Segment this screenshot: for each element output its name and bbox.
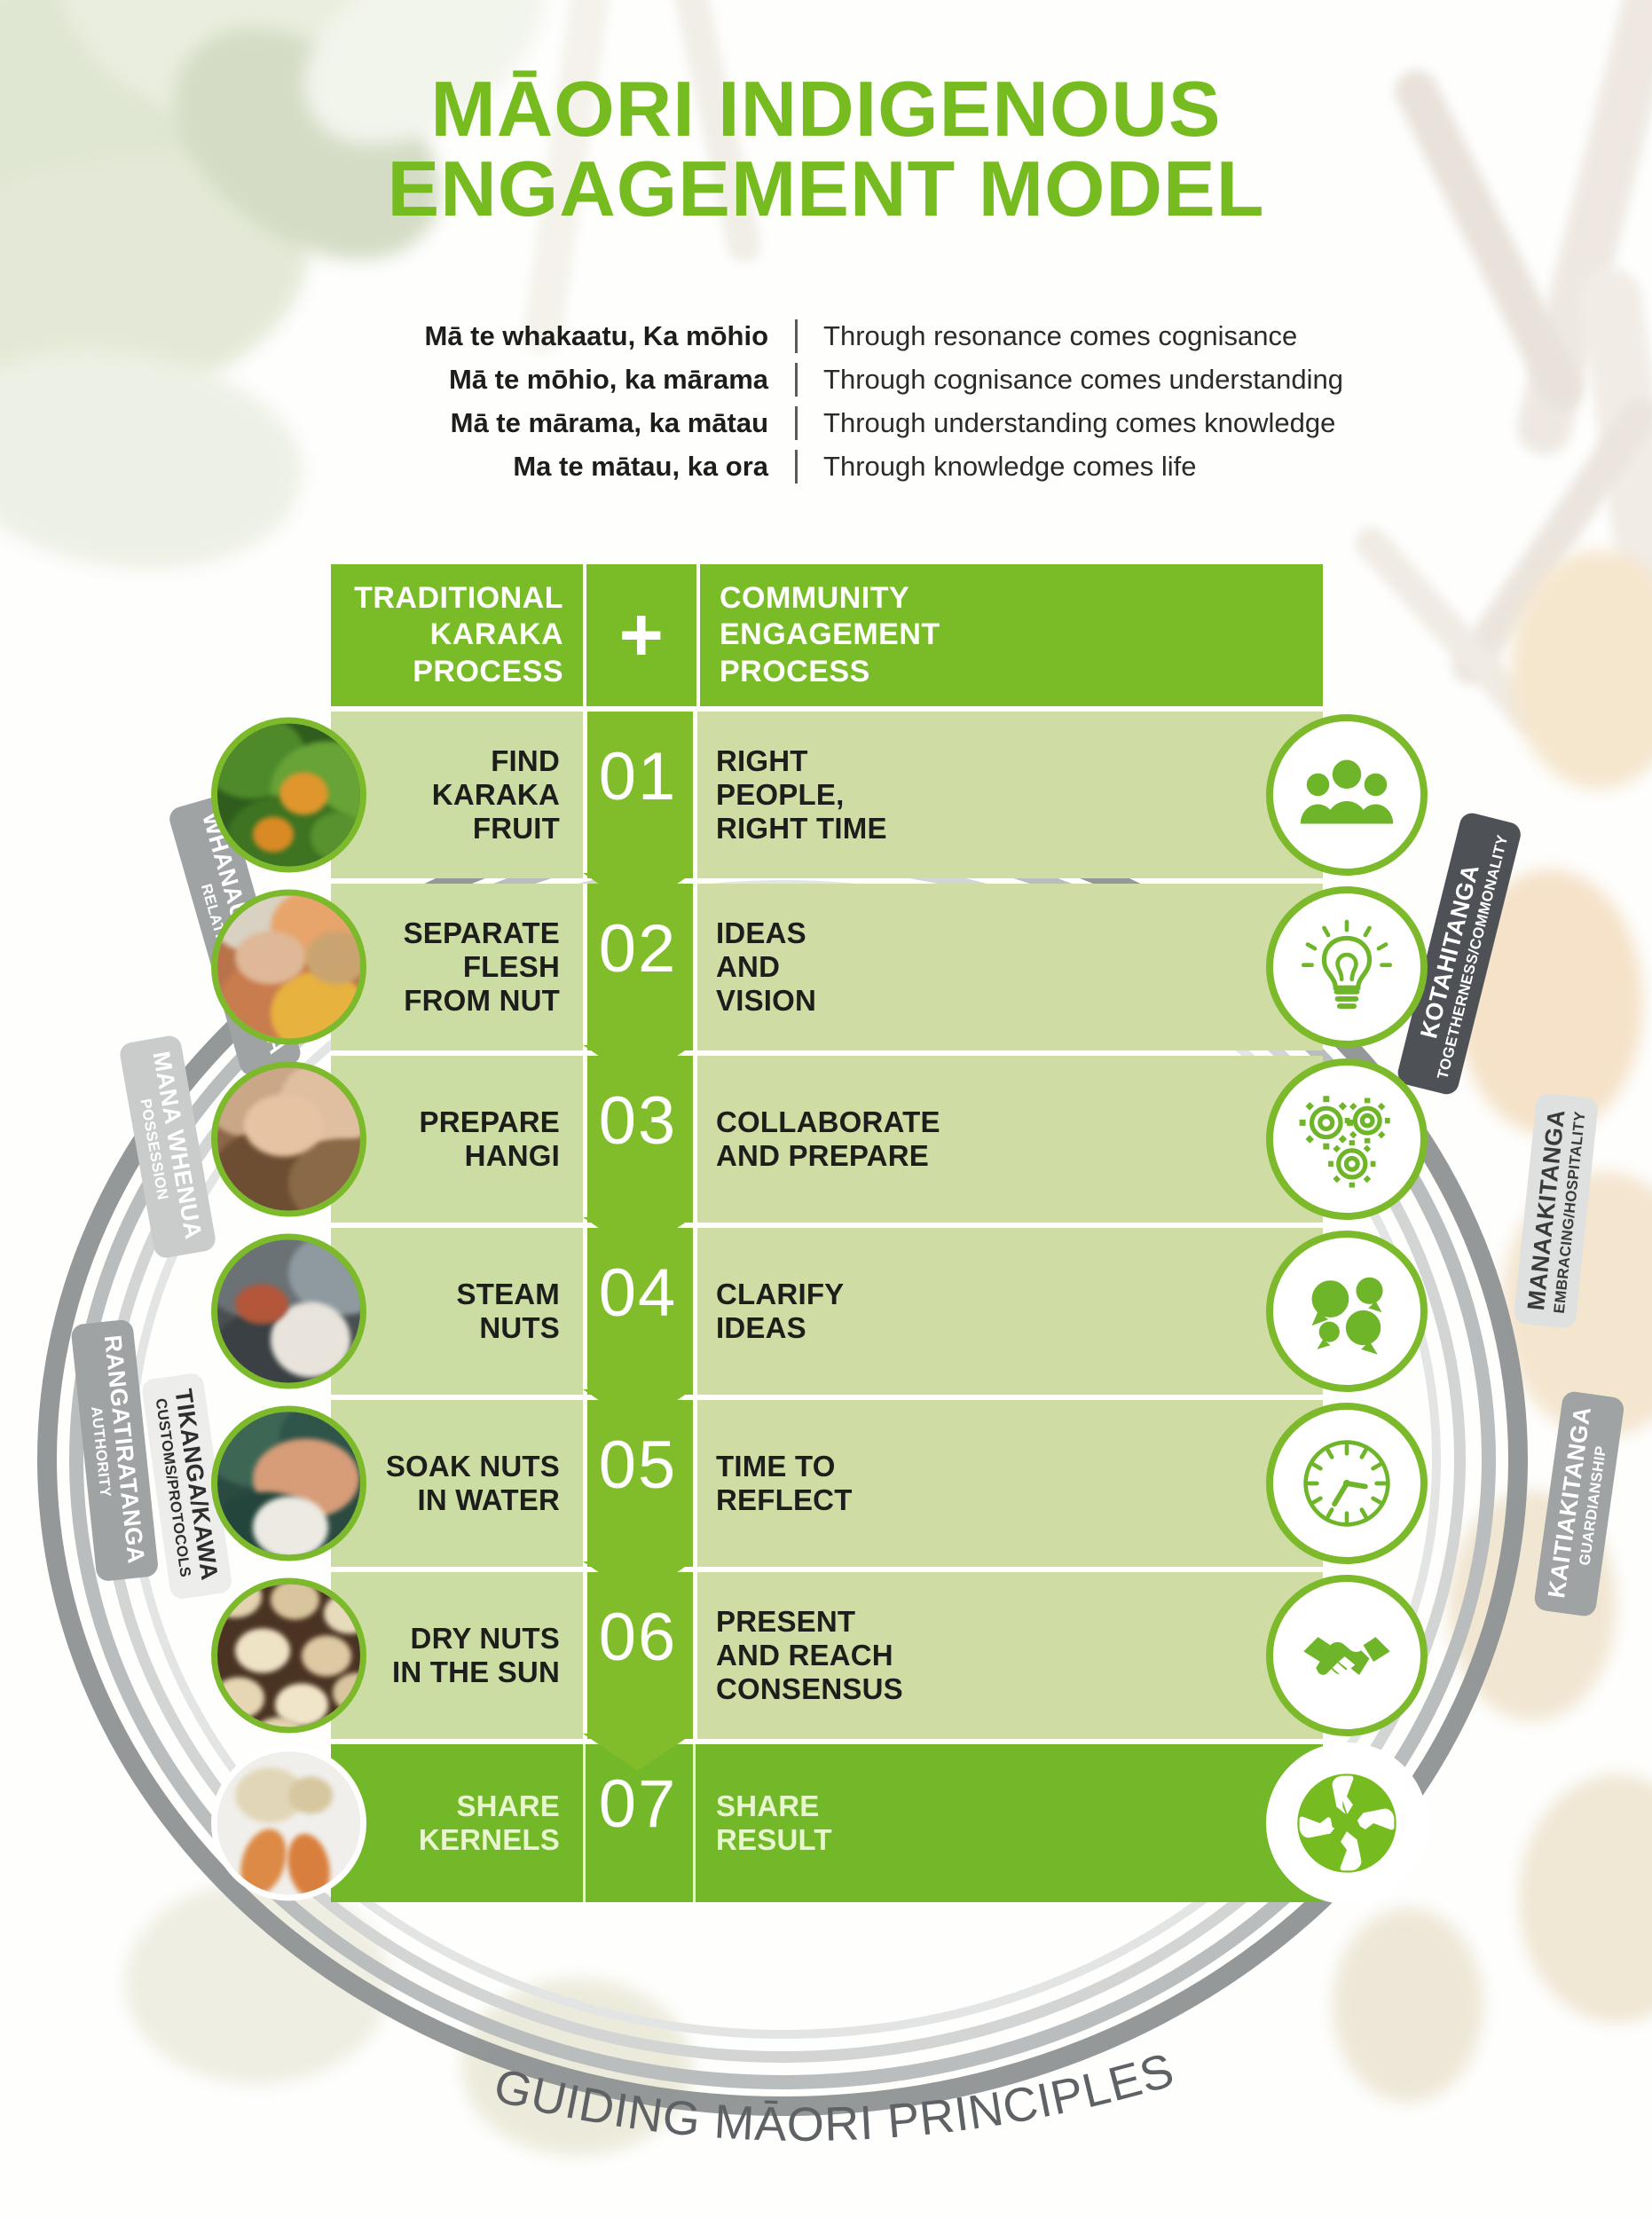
step-number: 01 [583,712,693,878]
header-left-line-1: TRADITIONAL [354,581,563,615]
community-line-2: PEOPLE, [716,778,844,811]
prepare-hangi-photo [211,1062,366,1217]
karaka-step-label: DRY NUTS IN THE SUN [331,1572,583,1739]
community-line-1: TIME TO [716,1450,836,1483]
community-step-label: TIME TO REFLECT [693,1400,1323,1567]
karaka-line-3: FROM NUT [404,984,560,1017]
proverb-block: Mā te whakaatu, Ka mōhio Through resonan… [0,319,1652,484]
community-step-label: SHARE RESULT [693,1744,1323,1902]
bottom-caption: GUIDING MĀORI PRINCIPLES [0,2001,1652,2196]
karaka-step-label: SOAK NUTS IN WATER [331,1400,583,1567]
karaka-line-2: KERNELS [419,1823,560,1856]
karaka-line-1: PREPARE [420,1105,561,1138]
karaka-line-2: IN THE SUN [392,1656,560,1688]
community-line-2: IDEAS [716,1311,806,1344]
karaka-line-2: HANGI [465,1139,560,1172]
process-step-row[interactable]: FIND KARAKA FRUIT 01 RIGHT PEOPLE, RIGHT… [331,712,1323,878]
process-step-row[interactable]: SOAK NUTS IN WATER 05 TIME TO REFLECT [331,1400,1323,1567]
page-title: MĀORI INDIGENOUS ENGAGEMENT MODEL [0,69,1652,229]
karaka-line-2: KARAKA [432,778,560,811]
community-line-2: AND [716,950,780,983]
community-step-label: RIGHT PEOPLE, RIGHT TIME [693,712,1323,878]
community-line-1: COLLABORATE [716,1105,940,1138]
svg-text:GUIDING MĀORI PRINCIPLES: GUIDING MĀORI PRINCIPLES [489,2043,1180,2151]
process-step-row[interactable]: SHARE KERNELS 07 SHARE RESULT [331,1744,1323,1902]
karaka-line-1: SEPARATE [404,916,560,949]
karaka-line-2: IN WATER [418,1483,560,1516]
community-line-2: AND REACH [716,1639,893,1671]
soak-nuts-photo [211,1406,366,1561]
community-step-label: IDEAS AND VISION [693,884,1323,1050]
karaka-line-1: STEAM [457,1278,561,1310]
header-right-line-3: PROCESS [720,655,870,688]
karaka-step-label: FIND KARAKA FRUIT [331,712,583,878]
header-plus-symbol: + [586,564,696,706]
community-line-3: CONSENSUS [716,1672,903,1705]
gears-icon [1266,1058,1428,1220]
community-line-1: RIGHT [716,744,808,777]
karaka-step-label: PREPARE HANGI [331,1056,583,1223]
dry-nuts-photo [211,1578,366,1734]
clock-icon [1266,1403,1428,1564]
step-number-value: 04 [599,1255,678,1332]
proverb-english-2: Through cognisance comes understanding [804,364,1343,396]
share-kernels-photo [211,1746,366,1901]
proverb-divider [795,450,798,484]
title-line-1: MĀORI INDIGENOUS [430,65,1221,153]
proverb-divider [795,406,798,440]
header-left-line-3: PROCESS [413,655,563,688]
community-line-3: VISION [716,984,816,1017]
hands-together-icon [1266,1742,1428,1904]
step-number-value: 06 [599,1599,678,1676]
step-number-value: 01 [599,738,678,815]
community-step-label: PRESENT AND REACH CONSENSUS [693,1572,1323,1739]
karaka-line-3: FRUIT [473,812,560,845]
community-step-label: COLLABORATE AND PREPARE [693,1056,1323,1223]
karaka-line-1: SOAK NUTS [386,1450,560,1483]
karaka-line-1: SHARE [456,1789,560,1822]
step-number-value: 05 [599,1427,678,1504]
community-line-1: SHARE [716,1789,820,1822]
plus-icon: + [619,609,665,662]
process-step-row[interactable]: PREPARE HANGI 03 COLLABORATE AND PREPARE [331,1056,1323,1223]
people-group-icon [1266,714,1428,876]
proverb-english-4: Through knowledge comes life [804,451,1343,483]
header-right-line-2: ENGAGEMENT [720,617,940,651]
community-line-2: REFLECT [716,1483,853,1516]
karaka-step-label: SHARE KERNELS [331,1744,583,1902]
karaka-line-1: FIND [491,744,560,777]
karaka-line-2: FLESH [463,950,560,983]
header-right-line-1: COMMUNITY [720,581,909,615]
step-number-value: 02 [599,910,678,987]
process-table: TRADITIONAL KARAKA PROCESS + COMMUNITY E… [331,564,1323,1907]
community-line-1: IDEAS [716,916,806,949]
proverb-maori-2: Mā te mōhio, ka mārama [309,364,788,396]
header-left-line-2: KARAKA [430,617,563,651]
steam-nuts-photo [211,1234,366,1389]
handshake-icon [1266,1575,1428,1736]
step-number-value: 03 [599,1082,678,1160]
caption-text: GUIDING MĀORI PRINCIPLES [489,2043,1180,2151]
proverb-english-3: Through understanding comes knowledge [804,407,1343,439]
community-line-2: AND PREPARE [716,1139,929,1172]
step-number-value: 07 [599,1766,678,1843]
process-step-row[interactable]: SEPARATE FLESH FROM NUT 02 IDEAS AND VIS… [331,884,1323,1050]
proverb-maori-1: Mā te whakaatu, Ka mōhio [309,320,788,352]
title-line-2: ENGAGEMENT MODEL [0,149,1652,229]
proverb-maori-4: Ma te mātau, ka ora [309,451,788,483]
community-line-1: PRESENT [716,1605,855,1638]
community-line-2: RESULT [716,1823,832,1856]
infographic-canvas: MĀORI INDIGENOUS ENGAGEMENT MODEL Mā te … [0,0,1652,2218]
proverb-divider [795,363,798,397]
community-step-label: CLARIFY IDEAS [693,1228,1323,1395]
process-table-header: TRADITIONAL KARAKA PROCESS + COMMUNITY E… [331,564,1323,706]
karaka-step-label: STEAM NUTS [331,1228,583,1395]
karaka-line-2: NUTS [479,1311,560,1344]
karaka-step-label: SEPARATE FLESH FROM NUT [331,884,583,1050]
header-traditional-karaka-process: TRADITIONAL KARAKA PROCESS [331,564,583,706]
proverb-divider [795,319,798,353]
lightbulb-icon [1266,886,1428,1048]
process-step-row[interactable]: DRY NUTS IN THE SUN 06 PRESENT AND REACH… [331,1572,1323,1739]
karaka-line-1: DRY NUTS [411,1622,560,1655]
speech-bubbles-icon [1266,1231,1428,1392]
karaka-fruit-photo [211,718,366,873]
community-line-3: RIGHT TIME [716,812,887,845]
separating-flesh-photo [211,890,366,1045]
header-community-engagement-process: COMMUNITY ENGAGEMENT PROCESS [700,564,1323,706]
proverb-maori-3: Mā te mārama, ka mātau [309,407,788,439]
process-step-row[interactable]: STEAM NUTS 04 CLARIFY IDEAS [331,1228,1323,1395]
community-line-1: CLARIFY [716,1278,844,1310]
proverb-english-1: Through resonance comes cognisance [804,320,1343,352]
